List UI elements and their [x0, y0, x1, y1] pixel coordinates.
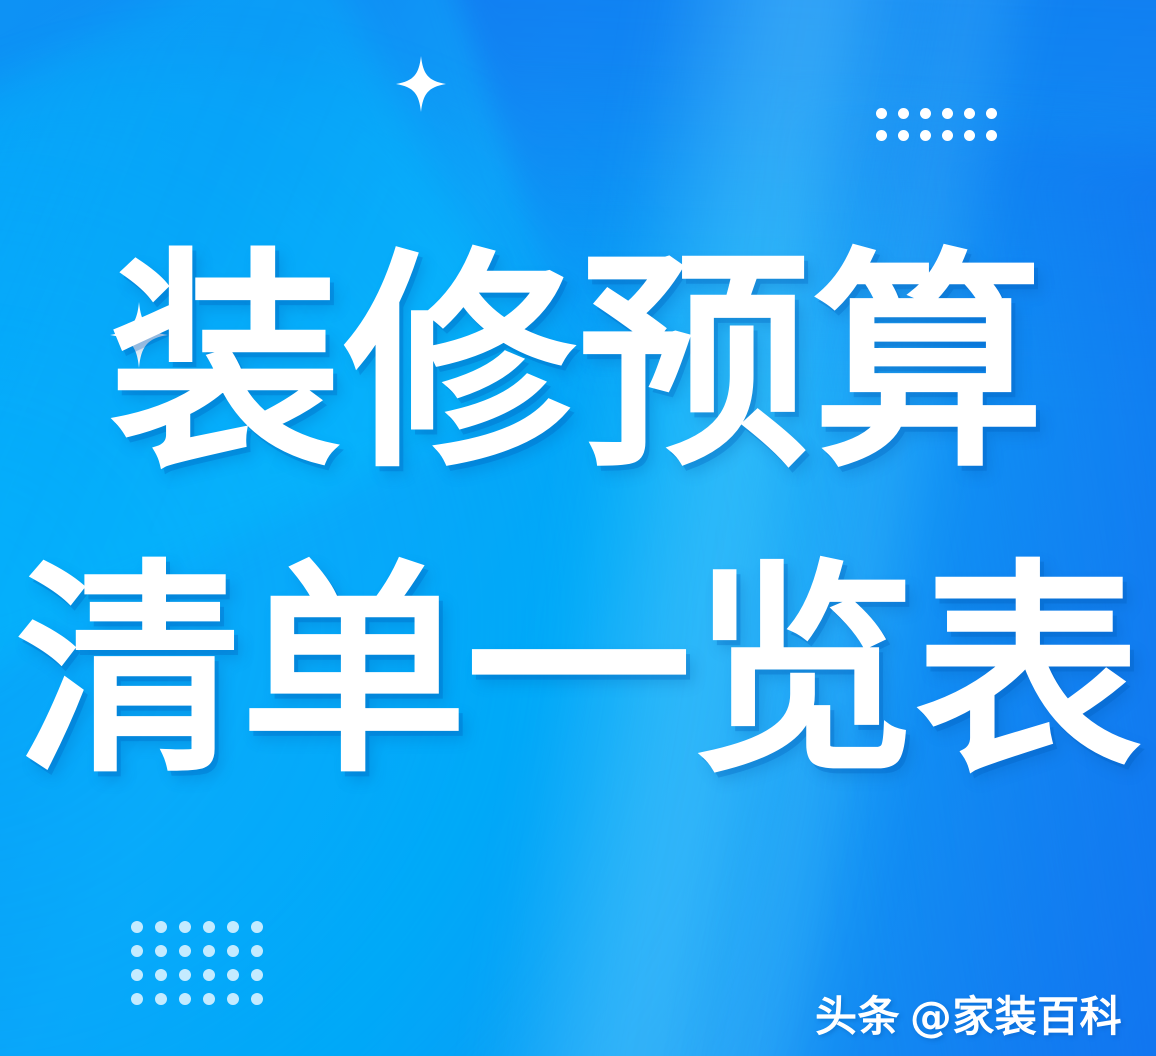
dot [920, 130, 931, 141]
dot [942, 108, 953, 119]
dot [227, 945, 239, 957]
dot [876, 130, 887, 141]
dot [131, 921, 143, 933]
dot [898, 108, 909, 119]
dot [203, 921, 215, 933]
dot [986, 108, 997, 119]
poster-canvas: 装修预算 清单一览表 头条 @家装百科 [0, 0, 1156, 1056]
dot [179, 921, 191, 933]
dot [179, 969, 191, 981]
dot [131, 945, 143, 957]
dot [876, 108, 887, 119]
dot-grid-top-right [876, 108, 997, 141]
dot [179, 945, 191, 957]
dot [203, 969, 215, 981]
dot [131, 969, 143, 981]
dot [251, 945, 263, 957]
dot [155, 945, 167, 957]
dot [155, 969, 167, 981]
dot-grid-bottom-left [131, 921, 263, 1005]
dot [227, 921, 239, 933]
dot [251, 969, 263, 981]
dot [251, 993, 263, 1005]
dot [920, 108, 931, 119]
sparkle-icon [396, 56, 446, 112]
dot [227, 969, 239, 981]
dot [155, 993, 167, 1005]
dot [251, 921, 263, 933]
watermark: 头条 @家装百科 [815, 983, 1122, 1044]
dot [203, 993, 215, 1005]
dot [155, 921, 167, 933]
watermark-handle: @家装百科 [910, 983, 1122, 1044]
dot [986, 130, 997, 141]
watermark-platform: 头条 [815, 983, 900, 1044]
dot [179, 993, 191, 1005]
dot [227, 993, 239, 1005]
watermark-account: 家装百科 [952, 992, 1122, 1041]
dot [942, 130, 953, 141]
dot [203, 945, 215, 957]
dot [964, 108, 975, 119]
dot [898, 130, 909, 141]
watermark-at-symbol: @ [910, 992, 952, 1041]
headline-line-2: 清单一览表 [0, 560, 1156, 786]
dot [131, 993, 143, 1005]
dot [964, 130, 975, 141]
headline-line-1: 装修预算 [0, 248, 1156, 480]
